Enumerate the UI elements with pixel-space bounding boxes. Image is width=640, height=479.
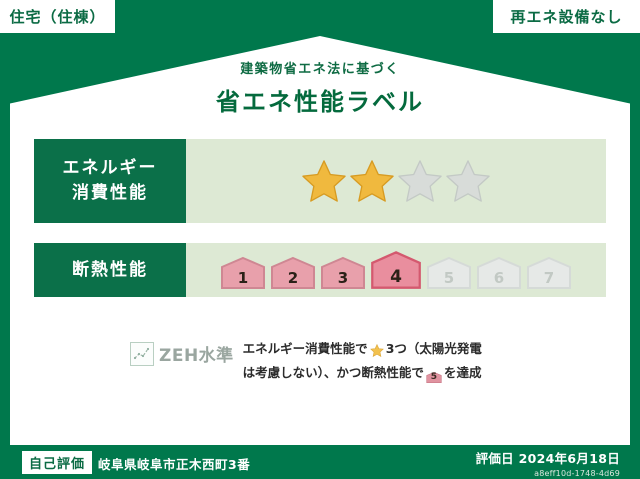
star-empty-icon: [445, 159, 491, 203]
insulation-level-4: 4: [370, 250, 422, 290]
building-type-badge: 住宅（住棟）: [0, 0, 115, 33]
insulation-rating-scale: 1234567: [186, 243, 606, 297]
insulation-level-value: 6: [494, 269, 504, 287]
zeh-desc-part2: 3つ（太陽光発電: [386, 341, 482, 356]
insulation-level-value: 7: [544, 269, 554, 287]
energy-performance-label-key: エネルギー 消費性能: [34, 139, 186, 223]
insulation-performance-label-key: 断熱性能: [34, 243, 186, 297]
property-address: 岐阜県岐阜市正木西町3番: [98, 454, 250, 473]
inline-house-badge: 5: [426, 371, 442, 384]
insulation-level-5: 5: [426, 256, 472, 290]
evaluation-date-block: 評価日 2024年6月18日 a8eff10d-1748-4d69: [476, 448, 620, 478]
energy-performance-row: エネルギー 消費性能: [34, 139, 606, 223]
insulation-level-6: 6: [476, 256, 522, 290]
self-evaluation-badge: 自己評価: [22, 451, 92, 474]
star-filled-icon: [349, 159, 395, 203]
zeh-desc-part3: は考慮しない）、かつ断熱性能で: [243, 365, 424, 380]
inline-house-value: 5: [431, 370, 437, 386]
star-icon: [369, 343, 385, 358]
insulation-level-3: 3: [320, 256, 366, 290]
insulation-performance-row: 断熱性能 1234567: [34, 243, 606, 297]
insulation-level-value: 4: [390, 267, 402, 287]
energy-key-line2: 消費性能: [72, 181, 148, 206]
page-title: 省エネ性能ラベル: [0, 82, 640, 117]
star-filled-icon: [301, 159, 347, 203]
star-empty-icon: [397, 159, 443, 203]
insulation-level-value: 2: [288, 269, 298, 287]
chart-line-icon: [130, 342, 154, 366]
energy-key-line1: エネルギー: [63, 156, 158, 181]
zeh-desc-part4: を達成: [444, 365, 482, 380]
insulation-level-value: 5: [444, 269, 454, 287]
zeh-description: エネルギー消費性能で 3つ（太陽光発電は考慮しない）、かつ断熱性能で 5を達成: [243, 336, 482, 384]
label-footer: 自己評価 岐阜県岐阜市正木西町3番 評価日 2024年6月18日 a8eff10…: [0, 445, 640, 479]
insulation-level-2: 2: [270, 256, 316, 290]
zeh-note-block: ZEH水準 エネルギー消費性能で 3つ（太陽光発電は考慮しない）、かつ断熱性能で…: [130, 336, 482, 384]
insulation-key-text: 断熱性能: [72, 258, 148, 283]
insulation-level-1: 1: [220, 256, 266, 290]
label-subtitle: 建築物省エネ法に基づく: [0, 58, 640, 77]
energy-performance-label: 住宅（住棟） 再エネ設備なし 建築物省エネ法に基づく 省エネ性能ラベル エネルギ…: [0, 0, 640, 479]
zeh-badge-label: ZEH水準: [159, 341, 234, 366]
zeh-badge: ZEH水準: [130, 336, 234, 366]
energy-star-rating: [186, 139, 606, 223]
record-id: a8eff10d-1748-4d69: [476, 469, 620, 478]
insulation-level-7: 7: [526, 256, 572, 290]
renewable-equipment-badge: 再エネ設備なし: [493, 0, 640, 33]
evaluation-date: 評価日 2024年6月18日: [476, 448, 620, 467]
zeh-desc-part1: エネルギー消費性能で: [243, 341, 368, 356]
insulation-level-value: 1: [238, 269, 248, 287]
label-title-block: 建築物省エネ法に基づく 省エネ性能ラベル: [0, 58, 640, 117]
insulation-level-value: 3: [338, 269, 348, 287]
